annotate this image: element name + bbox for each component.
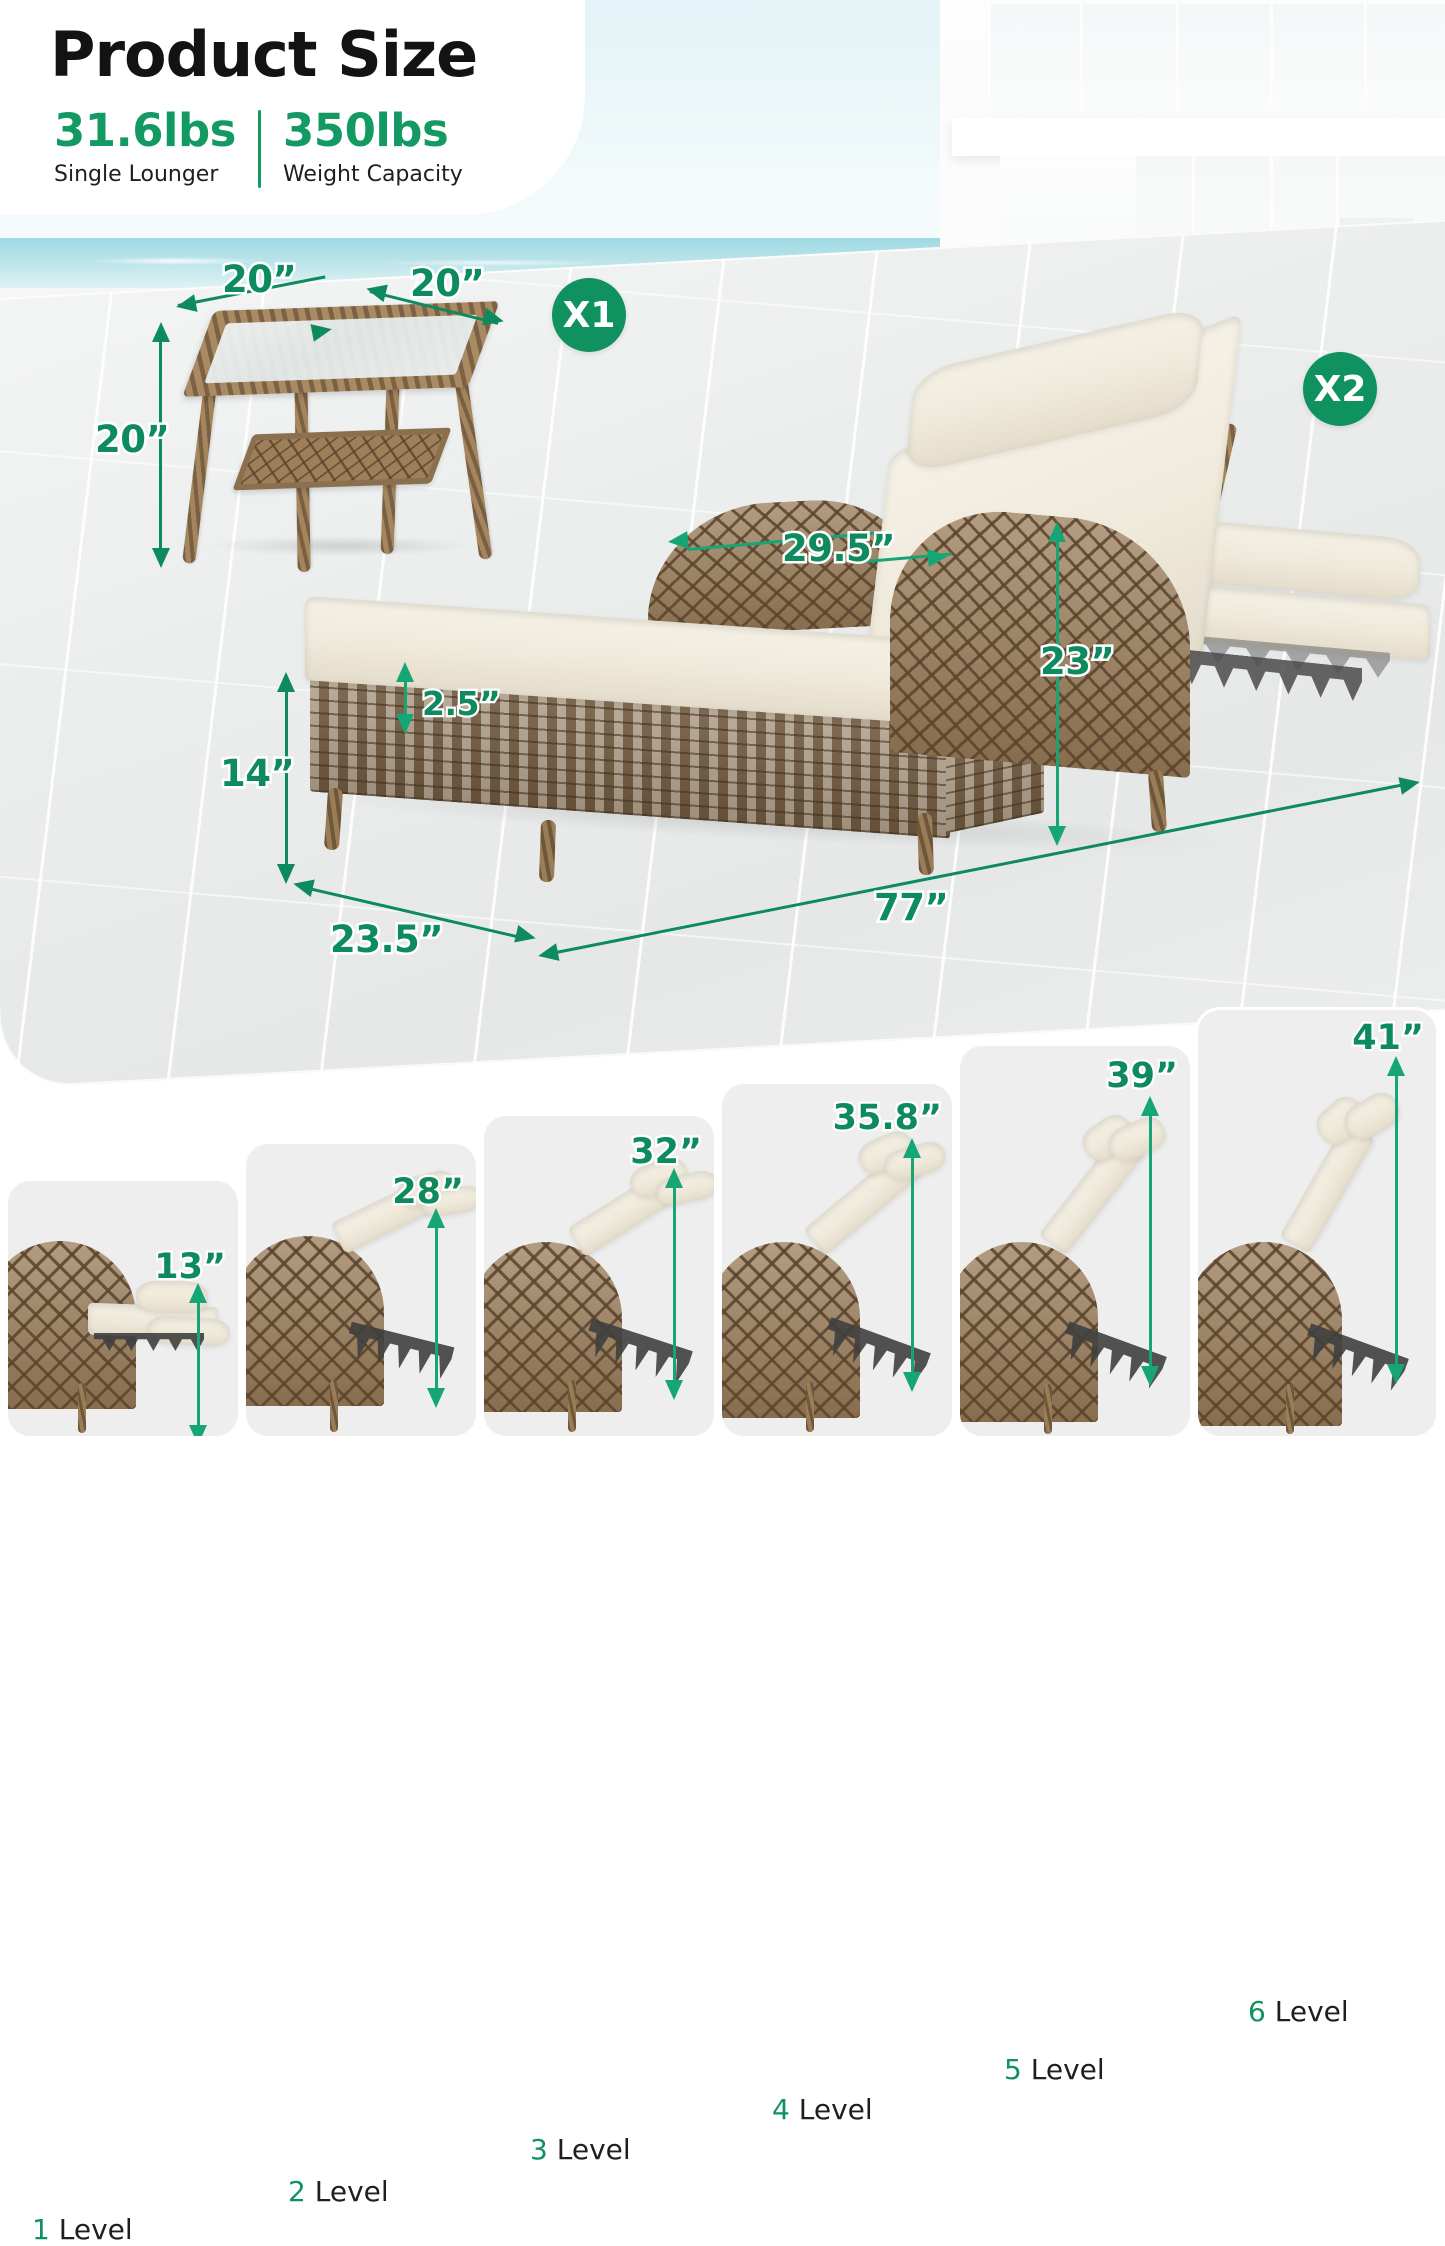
level-1-arrow-up	[189, 1283, 207, 1303]
table-width-front-arrow-right	[310, 320, 333, 341]
length-arrow-left	[536, 943, 559, 965]
level-1-number: 1	[32, 2213, 50, 2246]
table-width-side-label: 20”	[410, 262, 484, 305]
level-panel-4: 35.8”	[722, 1084, 952, 1436]
arm-height-line	[1056, 540, 1059, 830]
mini-leg	[568, 1380, 576, 1432]
table-height-arrow-up	[152, 322, 170, 342]
stats-row: 31.6lbs Single Lounger 350lbs Weight Cap…	[54, 108, 463, 188]
level-2-height: 28”	[392, 1172, 464, 1212]
mini-leg	[78, 1383, 86, 1433]
mini-armrest	[246, 1236, 384, 1406]
level-4-word: Level	[799, 2093, 873, 2126]
level-4-height-line	[911, 1154, 914, 1376]
level-6-word: Level	[1275, 1995, 1349, 2028]
level-5-label: 5 Level	[1004, 2053, 1105, 2086]
level-2-arrow-down	[427, 1388, 445, 1408]
level-1-arrow-down	[189, 1425, 207, 1436]
lounger-leg	[1148, 770, 1167, 833]
level-panel-5: 39”	[960, 1046, 1190, 1436]
level-panel-1: 13”	[8, 1181, 238, 1436]
level-panel-3: 32”	[484, 1116, 714, 1436]
level-3-number: 3	[530, 2133, 548, 2166]
level-1-height: 13”	[154, 1247, 226, 1287]
level-4-number: 4	[772, 2093, 790, 2126]
level-3-word: Level	[557, 2133, 631, 2166]
stat-weight: 31.6lbs Single Lounger	[54, 108, 236, 187]
window-mullion	[1270, 4, 1273, 120]
table-height-arrow-down	[152, 548, 170, 568]
level-6-height-line	[1395, 1072, 1398, 1368]
level-1-height-line	[197, 1299, 200, 1429]
level-2-arrow-up	[427, 1208, 445, 1228]
quantity-badge-table: X1	[552, 278, 626, 352]
seat-height-arrow-down	[277, 864, 295, 884]
cushion-thickness-label: 2.5”	[422, 684, 500, 723]
chaise-lounger-product	[270, 300, 1250, 900]
level-6-arrow-down	[1387, 1364, 1405, 1384]
house-upper-window	[988, 4, 1445, 120]
level-2-number: 2	[288, 2175, 306, 2208]
arm-height-arrow-up	[1048, 522, 1066, 542]
mini-leg	[806, 1382, 814, 1432]
level-5-word: Level	[1031, 2053, 1105, 2086]
table-height-label: 20”	[95, 418, 169, 461]
house-roof-slab	[952, 118, 1445, 156]
depth-label: 23.5”	[330, 918, 443, 961]
level-5-arrow-up	[1141, 1096, 1159, 1116]
arm-span-arrow-left	[667, 531, 688, 551]
level-2-word: Level	[315, 2175, 389, 2208]
page-title: Product Size	[50, 18, 477, 91]
level-2-label: 2 Level	[288, 2175, 389, 2208]
stat-capacity-caption: Weight Capacity	[283, 162, 463, 187]
stat-weight-caption: Single Lounger	[54, 162, 236, 187]
level-5-number: 5	[1004, 2053, 1022, 2086]
length-label: 77”	[874, 886, 948, 929]
arm-span-label: 29.5”	[782, 527, 895, 570]
product-scene: 20” 20” 20” 29.5” 23” 2.5” 14” 23.5” 77”…	[0, 0, 1445, 1085]
seat-height-arrow-up	[277, 672, 295, 692]
arm-height-arrow-down	[1048, 826, 1066, 846]
level-4-label: 4 Level	[772, 2093, 873, 2126]
cushion-thickness-arrow-down	[396, 714, 414, 734]
mini-leg	[330, 1380, 338, 1432]
mini-leg	[1044, 1384, 1052, 1434]
arm-height-label: 23”	[1040, 640, 1114, 683]
level-2-height-line	[435, 1224, 438, 1392]
level-panel-6: 41”	[1198, 1010, 1436, 1436]
level-6-height: 41”	[1352, 1018, 1424, 1058]
level-6-label: 6 Level	[1248, 1995, 1349, 2028]
level-4-arrow-up	[903, 1138, 921, 1158]
length-arrow-right	[1398, 773, 1421, 795]
stat-capacity: 350lbs Weight Capacity	[283, 108, 463, 187]
header-card: Product Size 31.6lbs Single Lounger 350l…	[0, 0, 585, 215]
level-6-arrow-up	[1387, 1056, 1405, 1076]
recline-levels-section: 13” 1 Level 28” 2 Level	[0, 1085, 1445, 1436]
seat-height-label: 14”	[220, 752, 294, 795]
lounger-leg	[324, 788, 343, 851]
window-mullion	[1176, 4, 1179, 120]
level-4-height: 35.8”	[833, 1098, 942, 1138]
window-mullion	[1364, 4, 1367, 120]
level-1-label: 1 Level	[32, 2213, 133, 2246]
level-4-arrow-down	[903, 1372, 921, 1392]
table-width-front-label: 20”	[222, 258, 296, 301]
stat-capacity-value: 350lbs	[283, 108, 463, 153]
table-width-front-arrow-left	[174, 294, 197, 315]
level-5-height-line	[1149, 1112, 1152, 1370]
lounger-leg	[917, 813, 934, 875]
level-3-arrow-up	[665, 1168, 683, 1188]
level-1-word: Level	[59, 2213, 133, 2246]
cushion-thickness-arrow-up	[396, 662, 414, 682]
level-3-label: 3 Level	[530, 2133, 631, 2166]
arm-span-arrow-right	[927, 547, 948, 567]
level-5-arrow-down	[1141, 1366, 1159, 1386]
level-3-height: 32”	[630, 1132, 702, 1172]
level-5-height: 39”	[1106, 1056, 1178, 1096]
level-1-illustration	[8, 1181, 238, 1436]
level-3-height-line	[673, 1184, 676, 1384]
quantity-badge-lounger: X2	[1303, 352, 1377, 426]
table-leg	[182, 368, 219, 564]
level-6-number: 6	[1248, 1995, 1266, 2028]
stat-weight-value: 31.6lbs	[54, 108, 236, 153]
window-mullion	[1080, 4, 1083, 120]
mini-pillow-2	[148, 1315, 230, 1347]
stats-divider	[258, 110, 261, 188]
mini-leg	[1286, 1384, 1294, 1434]
level-panel-2: 28”	[246, 1144, 476, 1436]
level-3-arrow-down	[665, 1380, 683, 1400]
lounger-leg	[539, 820, 556, 882]
